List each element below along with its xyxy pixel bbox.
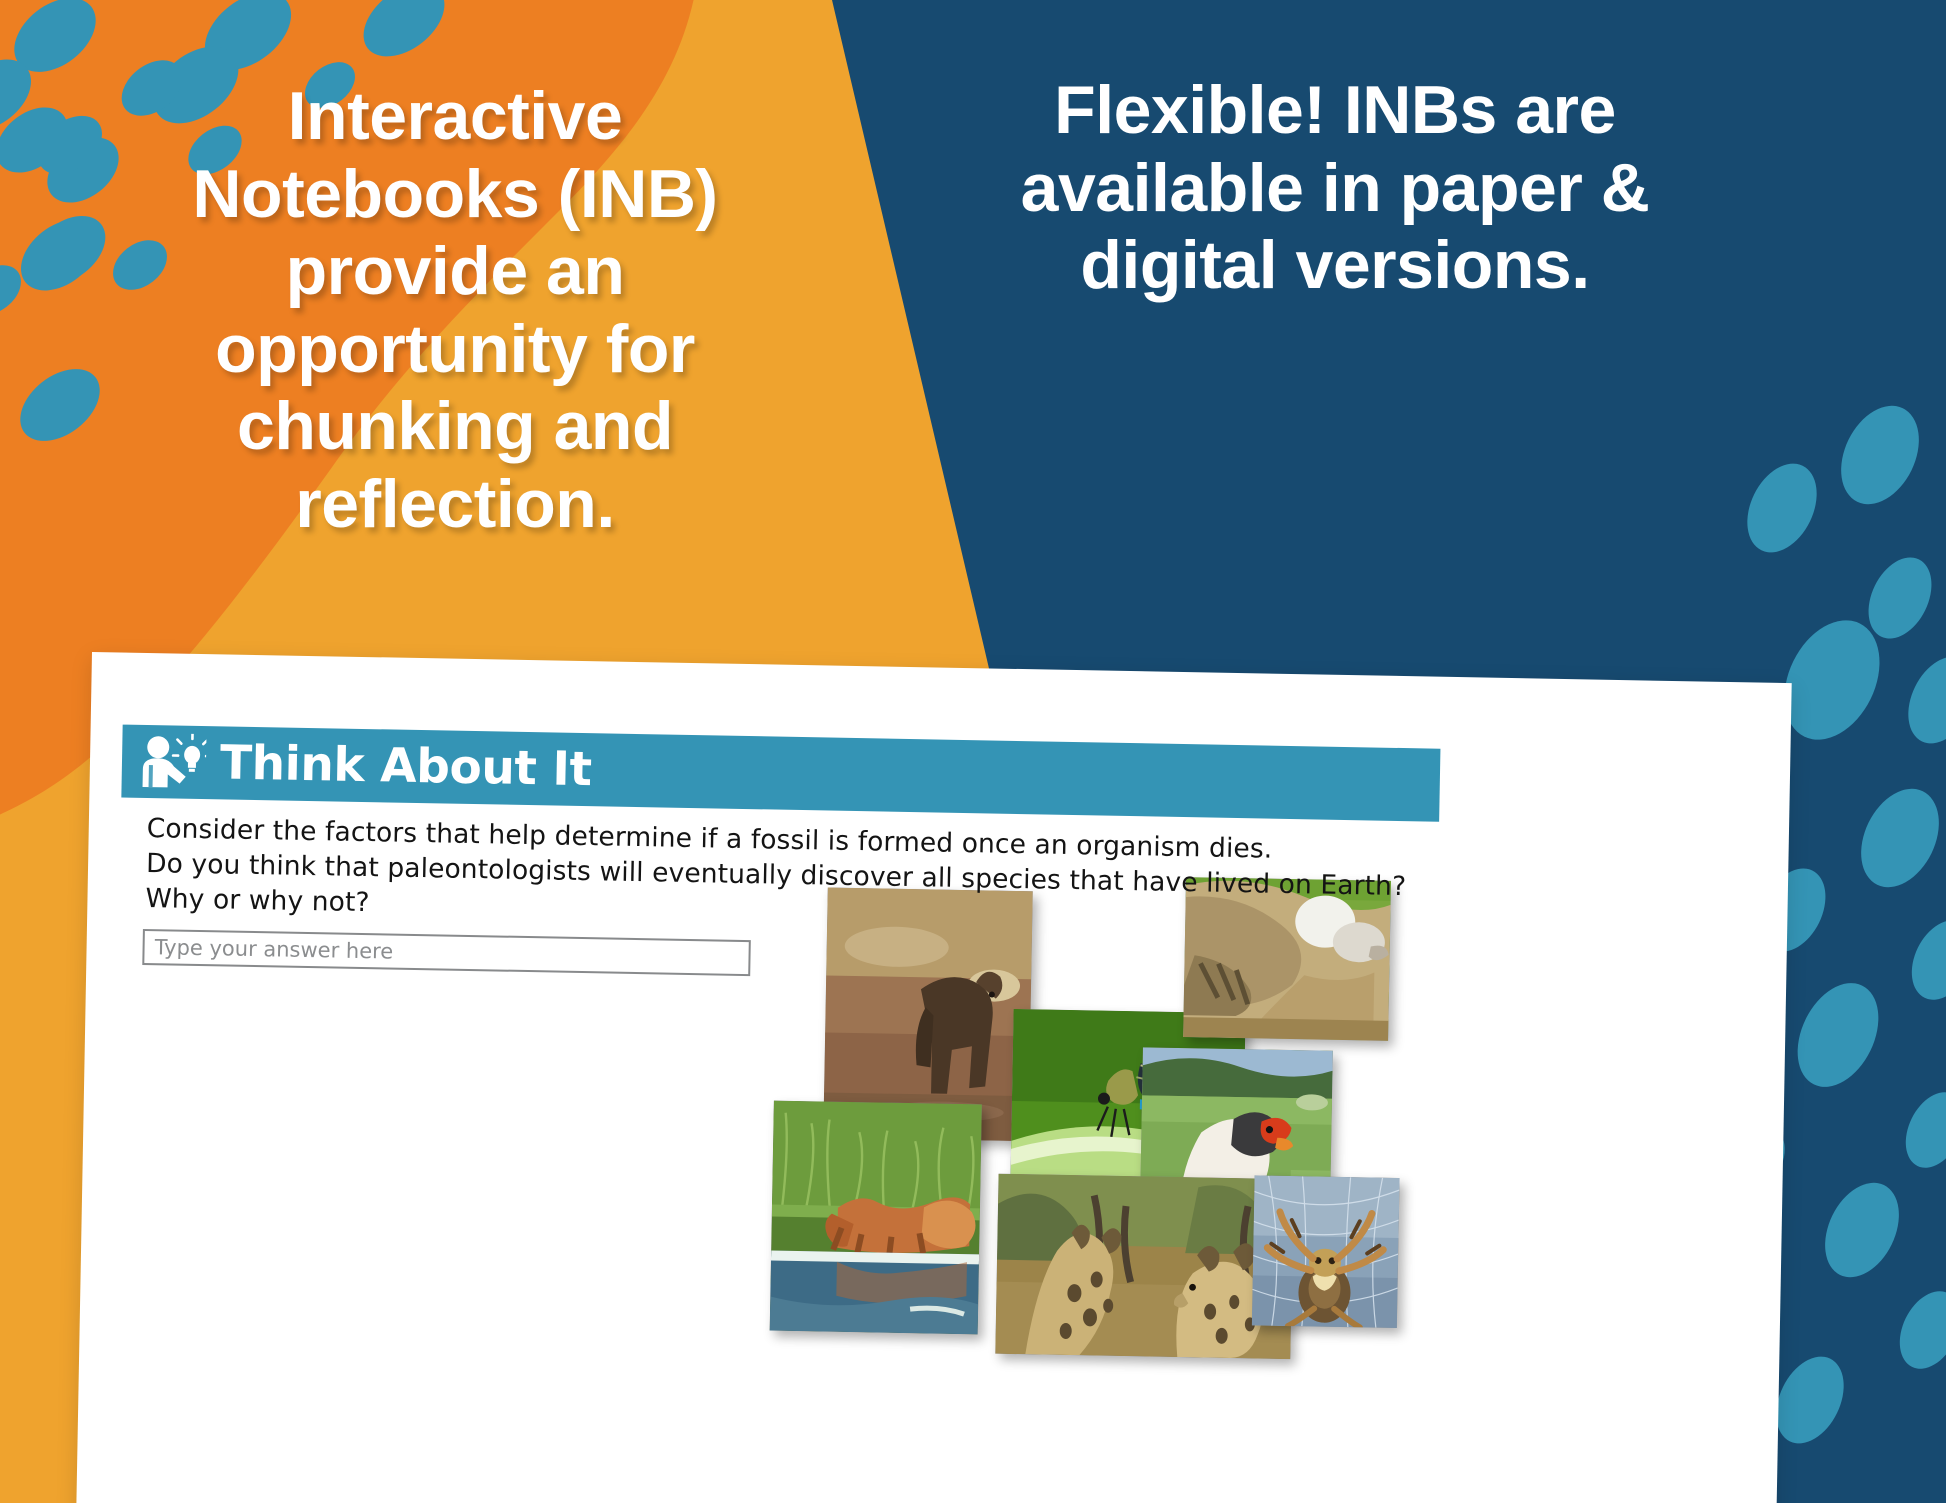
headline-right: Flexible! INBs are available in paper & … bbox=[1015, 72, 1655, 305]
red-fox-photo bbox=[770, 1101, 982, 1335]
person-with-lightbulb-icon bbox=[137, 732, 206, 791]
think-about-it-title: Think About It bbox=[220, 739, 592, 793]
spotted-hyenas-photo bbox=[995, 1174, 1293, 1359]
worksheet-card: Think About It Consider the factors that… bbox=[76, 652, 1792, 1503]
headline-left: Interactive Notebooks (INB) provide an o… bbox=[110, 78, 800, 543]
garden-spider-photo bbox=[1252, 1175, 1400, 1328]
slide-canvas: Interactive Notebooks (INB) provide an o… bbox=[0, 0, 1946, 1503]
